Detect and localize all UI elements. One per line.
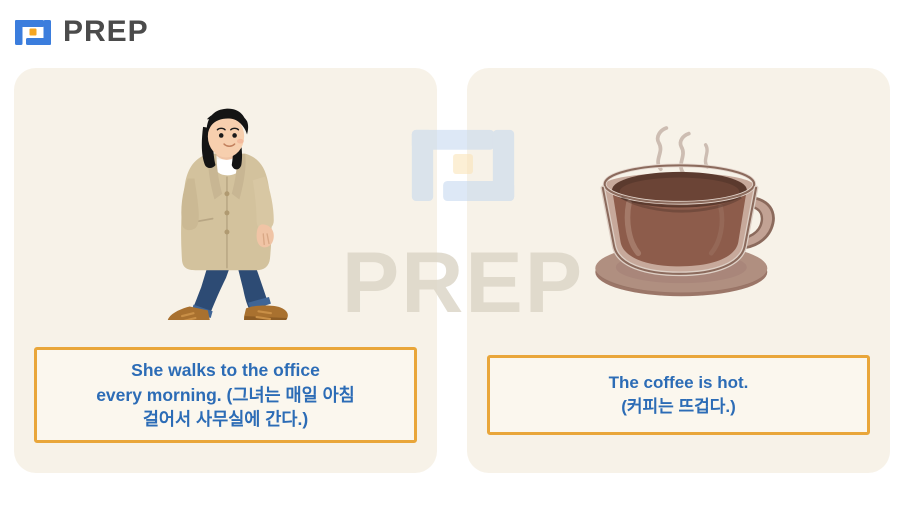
caption-text-right: The coffee is hot. (커피는 뜨겁다.) — [601, 359, 757, 431]
header-logo[interactable]: PREP — [14, 10, 149, 54]
card-walking-to-office[interactable]: She walks to the office every morning. (… — [14, 68, 437, 473]
caption-box-left: She walks to the office every morning. (… — [34, 347, 417, 443]
walking-woman-illustration — [14, 68, 437, 347]
coffee-cup-illustration — [467, 68, 890, 355]
caption-text-left: She walks to the office every morning. (… — [88, 346, 363, 445]
brand-name: PREP — [63, 17, 149, 47]
caption-box-right: The coffee is hot. (커피는 뜨겁다.) — [487, 355, 870, 435]
card-coffee-is-hot[interactable]: The coffee is hot. (커피는 뜨겁다.) — [467, 68, 890, 473]
prep-logo-icon — [14, 13, 52, 51]
card-row: She walks to the office every morning. (… — [14, 68, 890, 473]
